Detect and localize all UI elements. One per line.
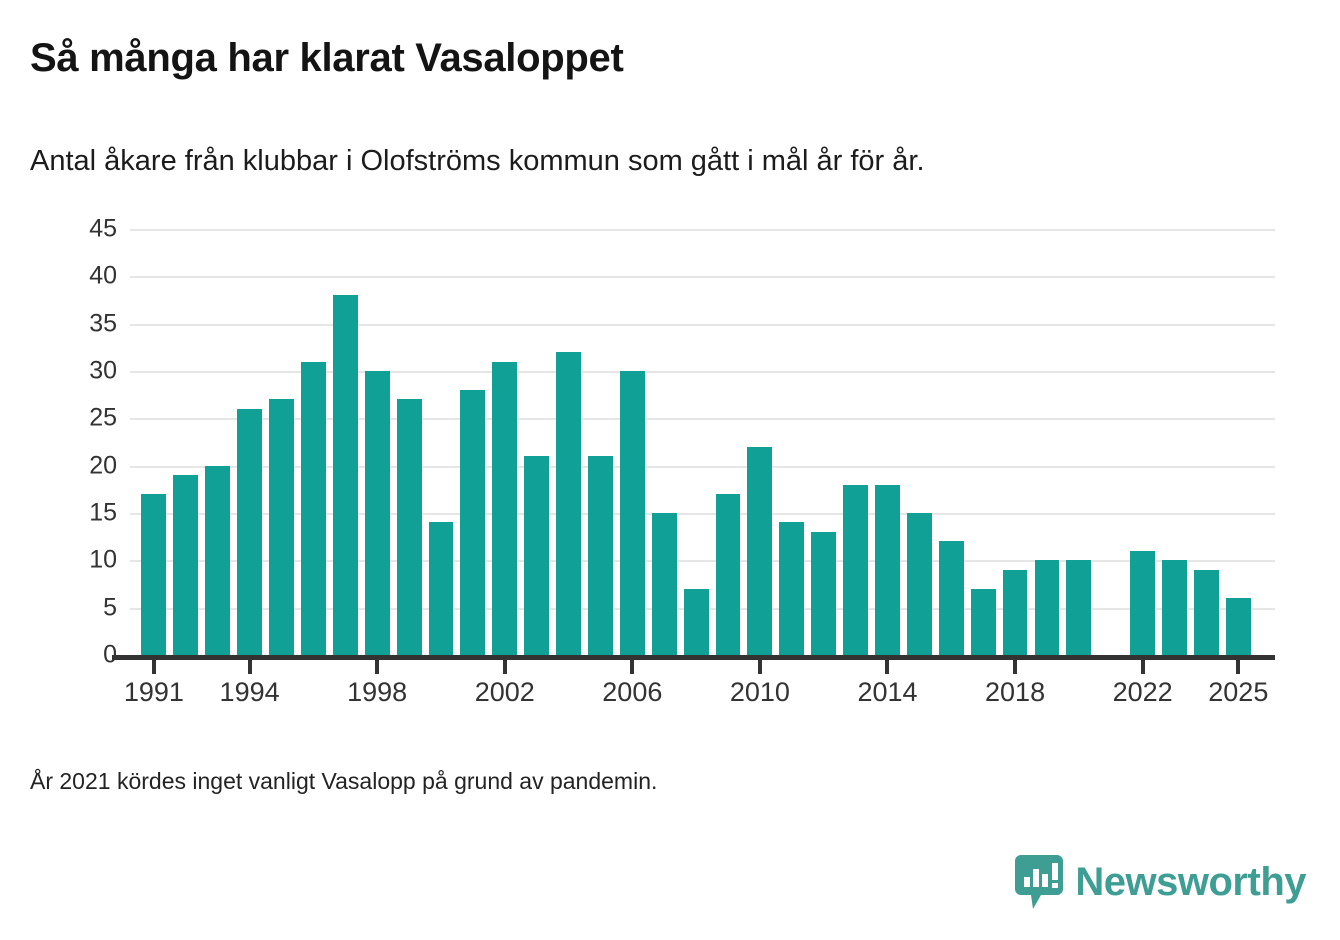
page-subtitle: Antal åkare från klubbar i Olofströms ko… — [30, 145, 925, 178]
page-title: Så många har klarat Vasaloppet — [30, 36, 623, 81]
bar-chart-speech-bubble-icon — [1015, 855, 1063, 909]
x-axis-tick-label: 2002 — [475, 677, 535, 708]
x-axis-tick-mark — [885, 660, 889, 674]
x-axis-tick-label: 2014 — [857, 677, 917, 708]
x-axis-tick-mark — [375, 660, 379, 674]
x-axis-labels: 1991199419982002200620102014201820222025 — [0, 215, 1300, 715]
x-axis-tick-mark — [1141, 660, 1145, 674]
x-axis-tick-mark — [152, 660, 156, 674]
x-axis-tick-mark — [758, 660, 762, 674]
bar-chart: 051015202530354045 199119941998200220062… — [0, 215, 1300, 715]
x-axis-tick-label: 2022 — [1113, 677, 1173, 708]
x-axis-tick-label: 1991 — [124, 677, 184, 708]
x-axis-tick-label: 2006 — [602, 677, 662, 708]
chart-footnote: År 2021 kördes inget vanligt Vasalopp på… — [30, 768, 657, 795]
x-axis-tick-mark — [630, 660, 634, 674]
chart-page: Så många har klarat Vasaloppet Antal åka… — [0, 0, 1340, 940]
newsworthy-logo: Newsworthy — [1015, 855, 1306, 909]
x-axis-tick-mark — [503, 660, 507, 674]
x-axis-tick-mark — [248, 660, 252, 674]
x-axis-tick-mark — [1236, 660, 1240, 674]
x-axis-tick-label: 2018 — [985, 677, 1045, 708]
x-axis-tick-label: 1994 — [220, 677, 280, 708]
x-axis-tick-label: 2025 — [1208, 677, 1268, 708]
x-axis-tick-label: 2010 — [730, 677, 790, 708]
brand-name: Newsworthy — [1075, 860, 1306, 905]
x-axis-tick-label: 1998 — [347, 677, 407, 708]
x-axis-tick-mark — [1013, 660, 1017, 674]
